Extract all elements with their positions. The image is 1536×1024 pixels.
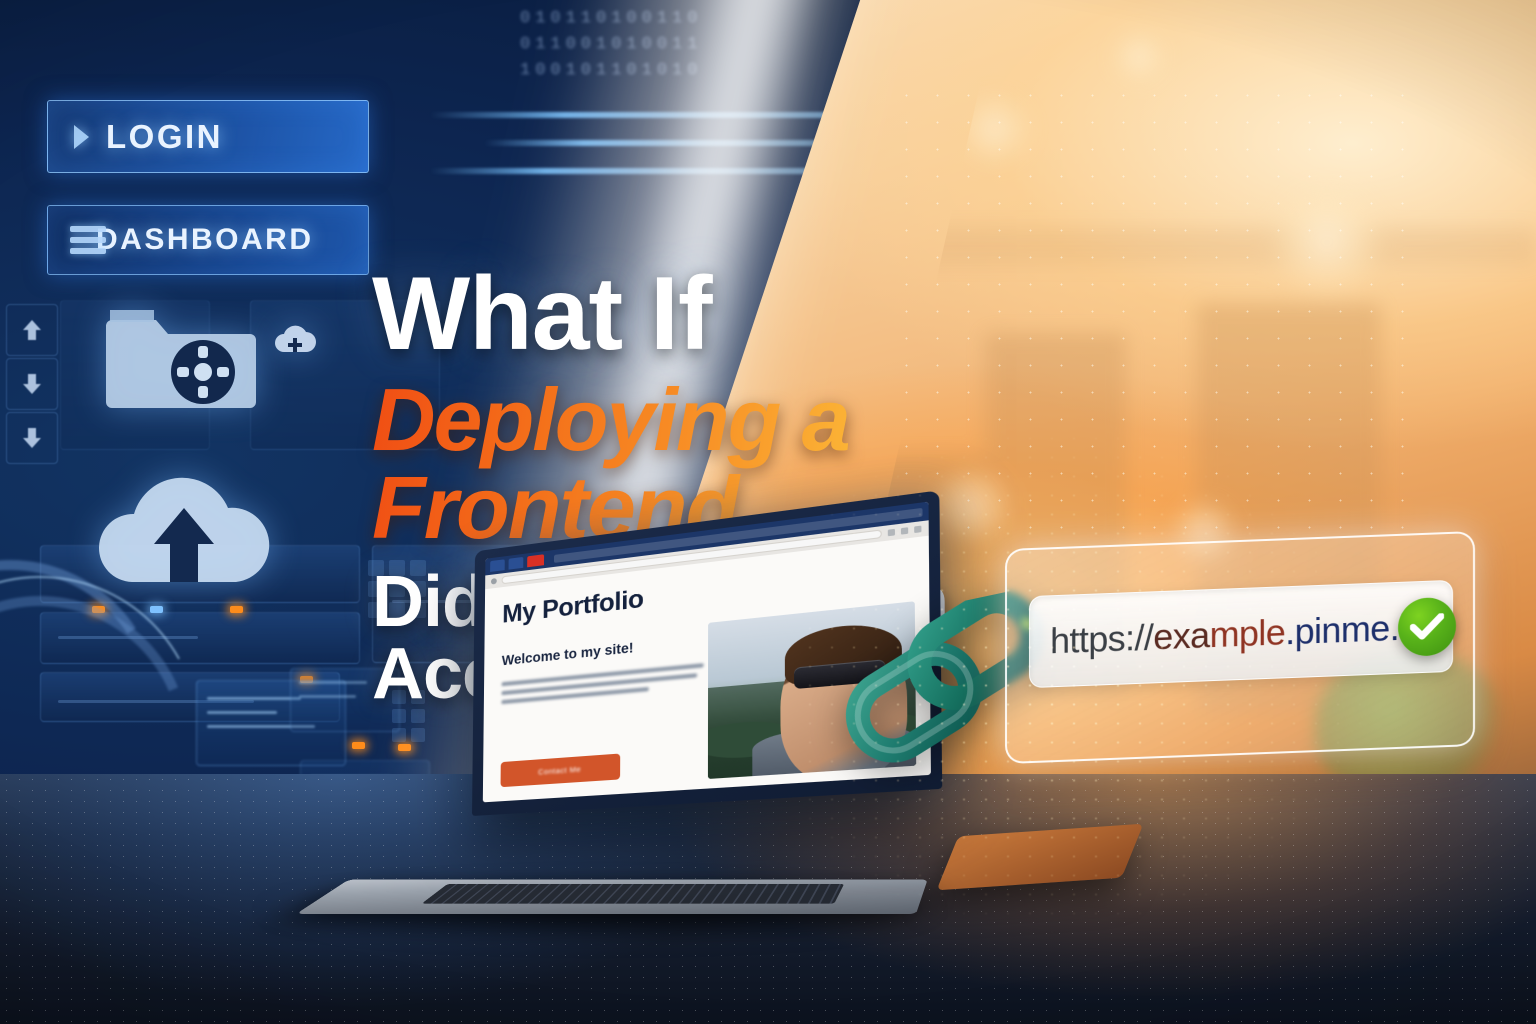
- hero-banner: 010110100110 011001010011 100101101010: [0, 0, 1536, 1024]
- chevron-right-icon: [74, 125, 89, 149]
- sparkle-particles: [799, 410, 1536, 1004]
- dashboard-button-label: DASHBOARD: [96, 223, 314, 257]
- cloud-add-icon: [272, 322, 318, 361]
- arrow-down-icon: [6, 358, 58, 410]
- portfolio-cta-button[interactable]: Contact Me: [501, 754, 621, 788]
- arrow-down-icon-2: [6, 412, 58, 464]
- portfolio-cta-label: Contact Me: [538, 765, 581, 777]
- portfolio-body-text: [501, 663, 703, 704]
- browser-back-icon[interactable]: [491, 578, 497, 585]
- login-button[interactable]: LOGIN: [47, 100, 369, 173]
- dashboard-button[interactable]: DASHBOARD: [47, 205, 369, 275]
- login-button-label: LOGIN: [106, 118, 223, 156]
- browser-tab[interactable]: [509, 557, 524, 570]
- folder-settings-icon: [106, 300, 256, 425]
- browser-tab[interactable]: [490, 559, 505, 572]
- hamburger-menu-icon: [70, 221, 106, 259]
- headline-line-1: What If: [372, 262, 1132, 366]
- cloud-upload-icon: [88, 460, 288, 595]
- browser-tab-active[interactable]: [527, 554, 544, 567]
- arrow-up-icon: [6, 304, 58, 356]
- laptop-keyboard: [421, 884, 844, 904]
